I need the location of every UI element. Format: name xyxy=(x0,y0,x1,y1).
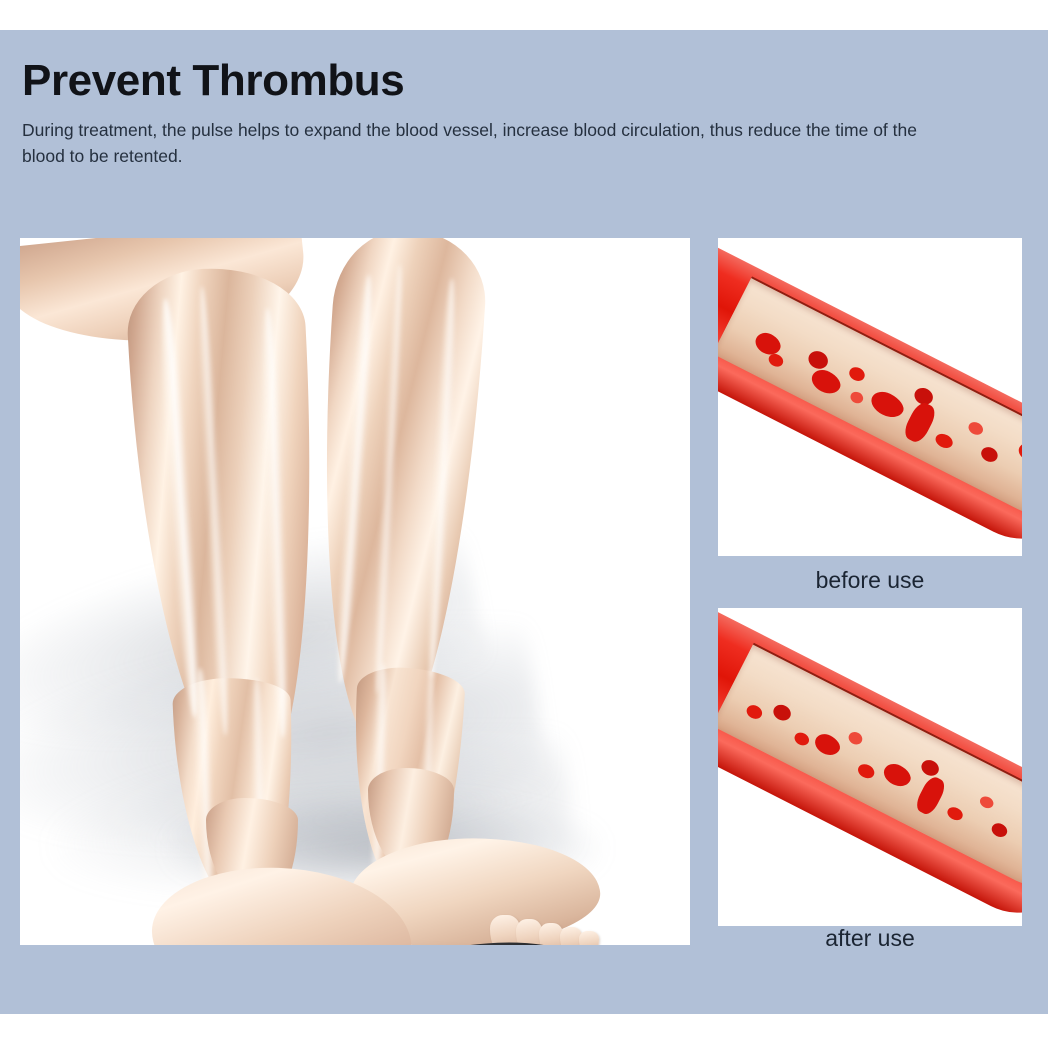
blood-cell-clump xyxy=(812,730,844,759)
blood-cell xyxy=(978,794,995,810)
blood-cell-clump xyxy=(880,760,914,791)
page-description: During treatment, the pulse helps to exp… xyxy=(22,118,957,170)
page-title: Prevent Thrombus xyxy=(22,58,1012,104)
page-root: Prevent Thrombus During treatment, the p… xyxy=(0,0,1048,1048)
blood-cell-clump xyxy=(752,329,784,359)
blood-cell xyxy=(1016,441,1022,464)
blood-cell xyxy=(933,431,955,451)
blood-vessel-render xyxy=(718,238,1022,556)
blood-cell xyxy=(792,731,811,749)
blood-cell xyxy=(945,805,965,823)
blood-cell xyxy=(846,730,864,747)
blood-cell xyxy=(744,702,764,721)
toes-front-group xyxy=(172,928,362,945)
vessel-panel-before xyxy=(718,238,1022,556)
blood-cell-clump xyxy=(867,387,907,422)
blood-cell xyxy=(989,821,1009,840)
blood-cell-clump xyxy=(914,774,949,817)
blood-cell-clump xyxy=(808,365,844,397)
blood-cell xyxy=(770,702,793,724)
caption-after-use: after use xyxy=(718,925,1022,952)
blood-cell xyxy=(847,365,867,384)
toe xyxy=(579,931,599,945)
blood-vessel-render xyxy=(718,608,1022,926)
blood-cell xyxy=(979,445,1001,465)
caption-before-use: before use xyxy=(718,567,1022,594)
blood-cell xyxy=(966,419,985,437)
blood-cell xyxy=(919,757,942,779)
blood-cell xyxy=(849,389,866,405)
vessel-panel-after xyxy=(718,608,1022,926)
main-photo-panel: CELLUBEX xyxy=(20,238,690,945)
blood-cell-clump xyxy=(901,400,939,446)
blood-cell xyxy=(856,761,877,780)
header: Prevent Thrombus During treatment, the p… xyxy=(22,58,1012,170)
blood-cell xyxy=(805,348,831,372)
toes-back-group xyxy=(490,893,608,945)
